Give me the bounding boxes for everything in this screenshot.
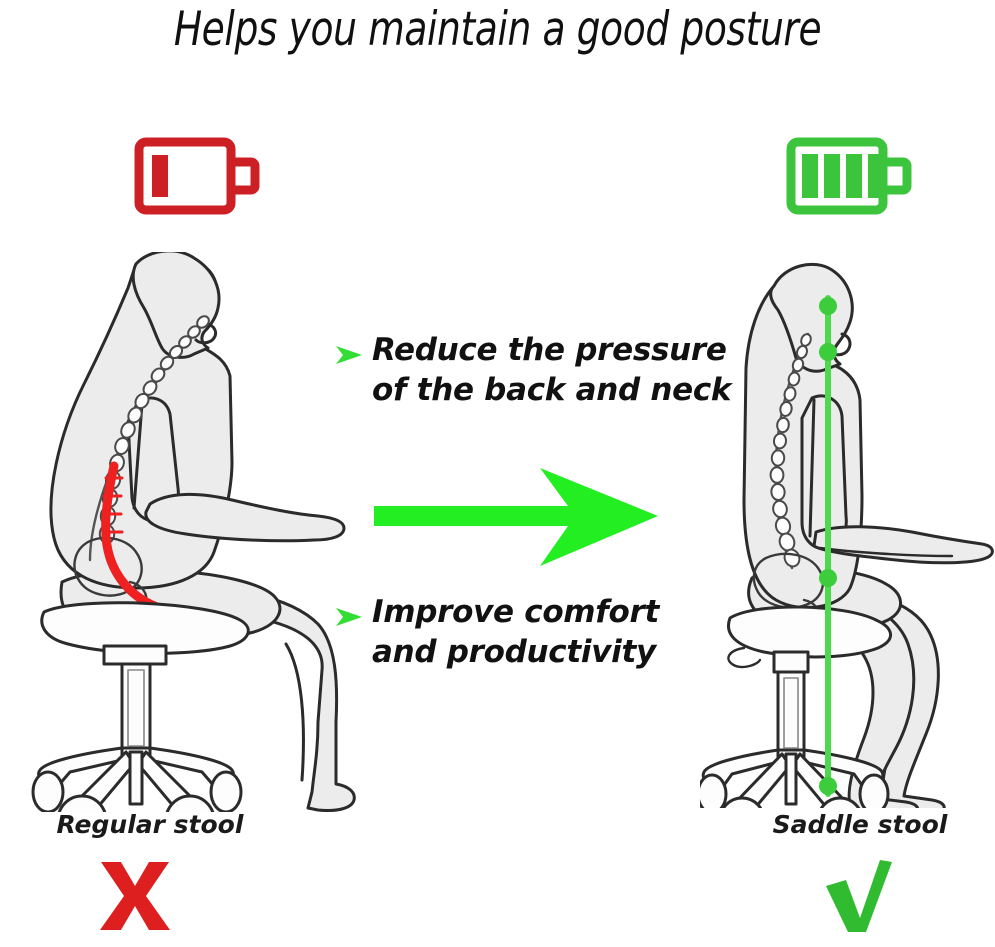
page-title: Helps you maintain a good posture <box>100 2 896 57</box>
hunched-person-on-regular-stool <box>18 252 358 812</box>
check-mark-icon <box>818 856 896 936</box>
benefit-item-1: Reduce the pressure of the back and neck <box>334 330 754 411</box>
right-arrow-icon <box>372 462 662 576</box>
caption-regular-stool: Regular stool <box>0 810 300 839</box>
benefit-item-2: Improve comfort and productivity <box>334 592 734 673</box>
cross-mark-icon <box>95 858 175 934</box>
benefit-text-2: Improve comfort and productivity <box>372 592 659 673</box>
caption-saddle-stool: Saddle stool <box>710 810 995 839</box>
green-triangle-bullet-icon <box>334 342 364 368</box>
benefit-text-1: Reduce the pressure of the back and neck <box>372 330 731 411</box>
battery-low-icon <box>134 130 262 222</box>
battery-full-icon <box>786 130 914 222</box>
poster-canvas: Helps you maintain a good posture <box>0 0 995 947</box>
green-triangle-bullet-icon <box>334 604 364 630</box>
